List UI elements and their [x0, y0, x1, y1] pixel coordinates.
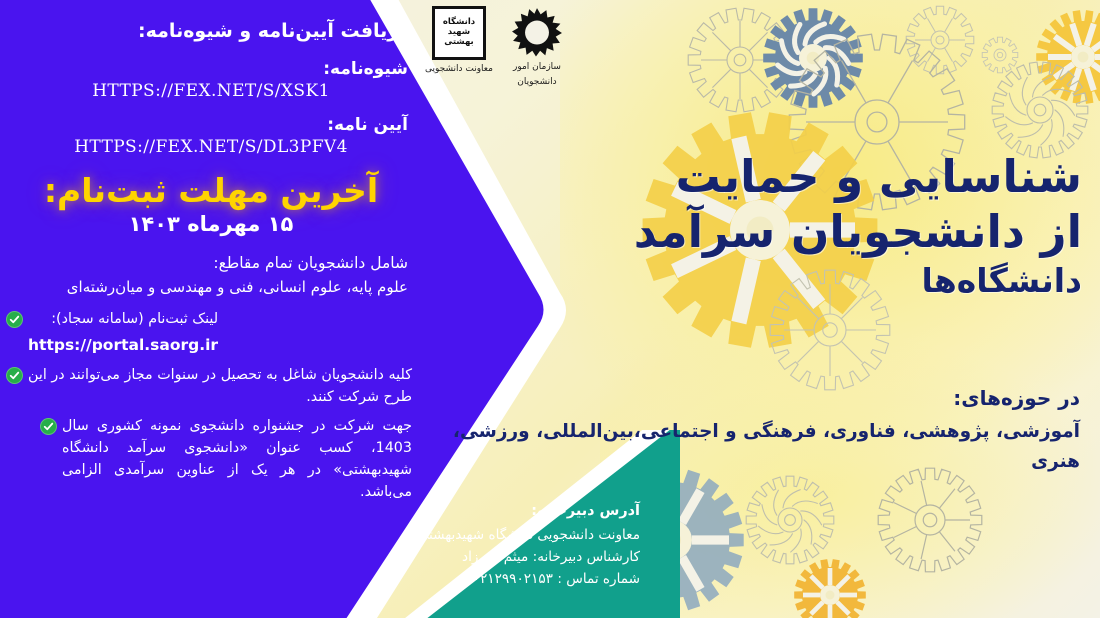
- logo-group: دانشگاه شهید بهشتی معاونت دانشجویی سازما…: [425, 6, 645, 116]
- portal-url[interactable]: https://portal.saorg.ir: [28, 333, 218, 357]
- ayinname-label: آیین نامه:: [6, 115, 408, 135]
- deadline-label: آخرین مهلت ثبت‌نام:: [6, 171, 416, 210]
- main-title: شناسایی و حمایت از دانشجویان سرآمد دانشگ…: [562, 150, 1082, 301]
- bullet-1-label: لینک ثبت‌نام (سامانه سجاد):: [51, 311, 218, 327]
- check-circle-icon: [6, 311, 23, 328]
- fields-value: آموزشی، پژوهشی، فناوری، فرهنگی و اجتماعی…: [440, 417, 1080, 476]
- sbu-seal-label: دانشگاه شهید بهشتی: [435, 18, 483, 47]
- list-item: جهت شرکت در جشنواره دانشجوی نمونه کشوری …: [6, 415, 412, 504]
- ayinname-url[interactable]: HTTPS://FEX.NET/S/DL3PFV4: [6, 137, 416, 157]
- sbu-logo: دانشگاه شهید بهشتی معاونت دانشجویی: [425, 6, 493, 75]
- sbu-logo-caption: معاونت دانشجویی: [425, 64, 493, 75]
- title-line-1: شناسایی و حمایت: [562, 150, 1082, 205]
- secretariat-phone: شماره تماس : ۰۲۱۲۹۹۰۲۱۵۳: [300, 568, 640, 590]
- list-item-text: لینک ثبت‌نام (سامانه سجاد): https://port…: [28, 308, 218, 356]
- download-heading: دریافت آیین‌نامه و شیوه‌نامه:: [6, 18, 408, 45]
- bullet-3-label: جهت شرکت در جشنواره دانشجوی نمونه کشوری …: [62, 415, 412, 504]
- list-item: کلیه دانشجویان شاغل به تحصیل در سنوات مج…: [6, 364, 412, 408]
- title-line-2: از دانشجویان سرآمد: [562, 205, 1082, 260]
- check-circle-icon: [40, 418, 57, 435]
- shivename-label: شیوه‌نامه:: [6, 59, 408, 79]
- fields-label: در حوزه‌های:: [440, 383, 1080, 413]
- secretariat-line-2: کارشناس دبیرخانه: میثم مهرزاد: [300, 546, 640, 568]
- includes-line-1: شامل دانشجویان تمام مقاطع:: [6, 252, 408, 275]
- poster-root: دانشگاه شهید بهشتی معاونت دانشجویی سازما…: [0, 0, 1100, 618]
- saorg-logo-caption-2: دانشجویان: [517, 77, 556, 88]
- secretariat-line-1: معاونت دانشجویی دانشگاه شهیدبهشتی: [300, 524, 640, 546]
- shahid-beheshti-seal-icon: دانشگاه شهید بهشتی: [432, 6, 486, 60]
- bullet-2-label: کلیه دانشجویان شاغل به تحصیل در سنوات مج…: [28, 364, 412, 408]
- deadline-date: ۱۵ مهرماه ۱۴۰۳: [6, 212, 416, 236]
- saorg-logo: سازمان امور دانشجویان: [509, 6, 565, 89]
- includes-line-2: علوم پایه، علوم انسانی، فنی و مهندسی و م…: [6, 276, 408, 299]
- secretariat-block: آدرس دبیرخانه: معاونت دانشجویی دانشگاه ش…: [300, 500, 640, 590]
- secretariat-title: آدرس دبیرخانه:: [300, 500, 640, 523]
- shivename-url[interactable]: HTTPS://FEX.NET/S/XSK1: [6, 81, 416, 101]
- starburst-icon: [509, 6, 565, 58]
- saorg-logo-caption-1: سازمان امور: [513, 62, 561, 73]
- check-circle-icon: [6, 367, 23, 384]
- list-item: لینک ثبت‌نام (سامانه سجاد): https://port…: [6, 308, 412, 356]
- fields-block: در حوزه‌های: آموزشی، پژوهشی، فناوری، فره…: [440, 383, 1080, 476]
- title-line-3: دانشگاه‌ها: [562, 260, 1082, 301]
